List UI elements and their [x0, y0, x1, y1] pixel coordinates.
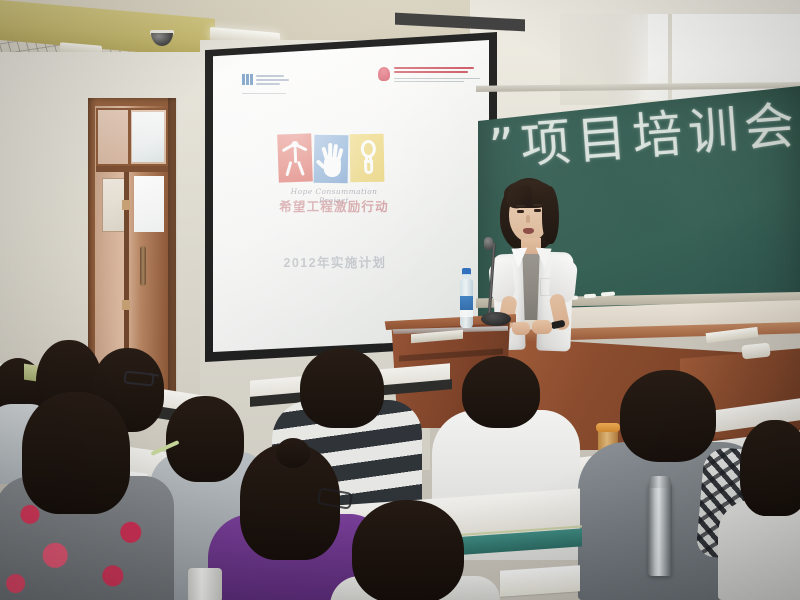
dome-security-camera	[148, 30, 176, 46]
student-back-right-head	[740, 420, 800, 516]
door-hinge-lower	[122, 300, 130, 310]
presenter-eyebrow-right	[533, 204, 542, 206]
white-cup	[188, 568, 222, 600]
presenter-eyebrow-left	[516, 205, 525, 207]
student-striped-head	[300, 348, 384, 428]
wall-above-blackboard	[470, 0, 800, 14]
presenter-hand-left	[512, 322, 530, 335]
presenter-nose	[526, 215, 530, 223]
door-handle[interactable]	[140, 246, 146, 286]
slide-program-logo	[278, 134, 386, 190]
student-purple-hair-bun	[276, 438, 310, 468]
student-front-center-head	[352, 500, 464, 600]
slide-title: 2012年实施计划	[262, 252, 408, 271]
door-window-right	[134, 176, 164, 232]
student-white-tee-head	[462, 356, 540, 428]
door-hinge-upper	[122, 200, 130, 210]
presenter-eye-right	[534, 209, 541, 212]
slide-university-logo	[242, 72, 302, 102]
steel-thermos	[648, 480, 672, 576]
presenter-mouth	[523, 228, 534, 234]
door-rail	[96, 166, 168, 172]
thermos-cap	[649, 476, 671, 488]
presenter-hand-right	[532, 320, 552, 334]
presenter-eye-left	[517, 210, 524, 213]
student-floral-pink-head	[22, 392, 130, 514]
presenter-hair-side	[542, 186, 559, 244]
slide-brand-chinese: 希望工程激励行动	[268, 196, 400, 215]
notepaper	[500, 565, 580, 597]
logo-person-panel	[277, 133, 313, 182]
classroom-photo: Hope Consummation Project 希望工程激励行动 2012年…	[0, 0, 800, 600]
door-transom-glass	[132, 112, 164, 162]
student-grey-mid-head	[166, 396, 244, 482]
chalk-eraser	[741, 343, 770, 360]
window-mullion	[668, 12, 672, 107]
door-transom-divider	[128, 110, 131, 164]
water-bottle	[459, 268, 474, 328]
slide-foundation-logo	[378, 66, 482, 88]
logo-lightbulb-panel	[350, 134, 385, 183]
door-frame-shadow	[168, 98, 178, 398]
microphone	[484, 237, 493, 250]
logo-hand-panel	[314, 135, 349, 184]
student-grey-right-head	[620, 370, 716, 462]
microphone-base	[481, 312, 511, 326]
orange-cup-lid	[596, 423, 620, 432]
